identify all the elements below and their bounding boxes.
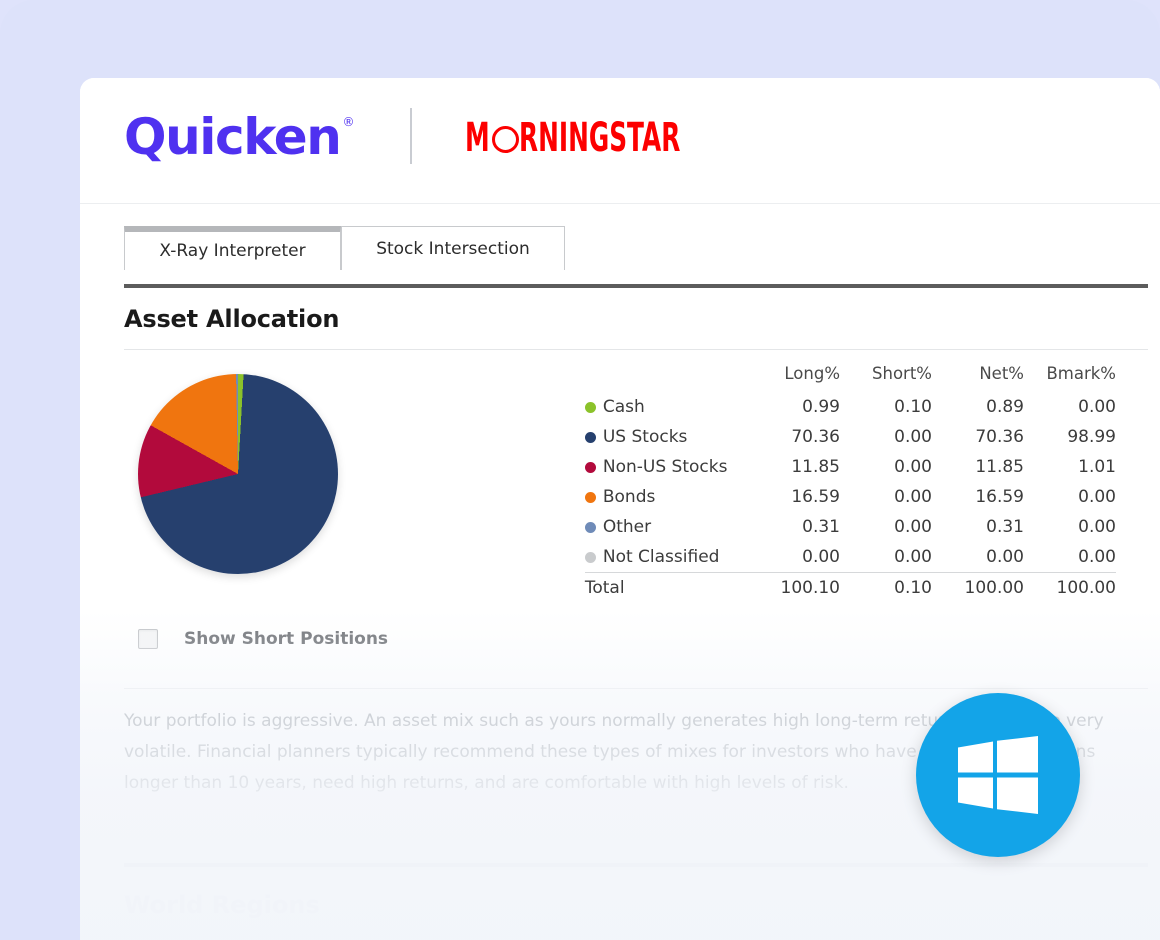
show-short-positions-row[interactable]: Show Short Positions	[124, 603, 1116, 649]
asset-allocation-table: Long% Short% Net% Bmark% Cash0.990.100.8…	[585, 364, 1116, 603]
legend-swatch-icon	[585, 462, 596, 473]
show-short-positions-label: Show Short Positions	[184, 629, 388, 649]
asset-class-cell: Non-US Stocks	[585, 452, 748, 482]
asset-class-label: Non-US Stocks	[603, 457, 728, 477]
legend-swatch-icon	[585, 522, 596, 533]
legend-swatch-icon	[585, 492, 596, 503]
allocation-body: Long% Short% Net% Bmark% Cash0.990.100.8…	[124, 350, 1116, 603]
table-header-row: Long% Short% Net% Bmark%	[585, 364, 1116, 392]
short-percent-cell: 0.00	[840, 542, 932, 573]
long-percent-cell: 0.00	[748, 542, 840, 573]
table-body: Cash0.990.100.890.00US Stocks70.360.0070…	[585, 392, 1116, 603]
asset-class-cell: Other	[585, 512, 748, 542]
column-header-short: Short%	[840, 364, 932, 392]
table-total-row: Total100.100.10100.00100.00	[585, 573, 1116, 604]
brand-header: Quicken ® M RNINGSTAR	[80, 78, 1160, 204]
net-percent-cell: 0.31	[932, 512, 1024, 542]
column-header-net: Net%	[932, 364, 1024, 392]
quicken-logo: Quicken ®	[124, 112, 355, 162]
quicken-registered-mark: ®	[343, 116, 355, 128]
tab-bar: X-Ray Interpreter Stock Intersection	[80, 204, 1160, 284]
tab-xray-interpreter[interactable]: X-Ray Interpreter	[124, 226, 341, 270]
total-bmark-percent: 100.00	[1024, 573, 1116, 604]
world-regions-title: World Regions	[124, 867, 1148, 919]
short-percent-cell: 0.00	[840, 482, 932, 512]
short-percent-cell: 0.00	[840, 452, 932, 482]
net-percent-cell: 0.00	[932, 542, 1024, 573]
table-row: Bonds16.590.0016.590.00	[585, 482, 1116, 512]
long-percent-cell: 70.36	[748, 422, 840, 452]
show-short-positions-checkbox[interactable]	[138, 629, 158, 649]
long-percent-cell: 11.85	[748, 452, 840, 482]
bmark-percent-cell: 98.99	[1024, 422, 1116, 452]
quicken-wordmark: Quicken	[124, 112, 341, 162]
bmark-percent-cell: 0.00	[1024, 542, 1116, 573]
column-header-long: Long%	[748, 364, 840, 392]
total-net-percent: 100.00	[932, 573, 1024, 604]
table-row: Not Classified0.000.000.000.00	[585, 542, 1116, 573]
pie-chart-container	[124, 364, 585, 574]
brand-divider	[410, 108, 412, 164]
table-row: Cash0.990.100.890.00	[585, 392, 1116, 422]
net-percent-cell: 11.85	[932, 452, 1024, 482]
morningstar-wordmark-suffix: RNINGSTAR	[519, 118, 680, 158]
asset-class-label: US Stocks	[603, 427, 688, 447]
bmark-percent-cell: 1.01	[1024, 452, 1116, 482]
page-title: Asset Allocation	[124, 288, 1116, 349]
total-label: Total	[585, 573, 748, 604]
asset-class-label: Cash	[603, 397, 645, 417]
legend-swatch-icon	[585, 402, 596, 413]
tab-stock-intersection-label: Stock Intersection	[376, 239, 530, 259]
table-row: US Stocks70.360.0070.3698.99	[585, 422, 1116, 452]
short-percent-cell: 0.10	[840, 392, 932, 422]
net-percent-cell: 16.59	[932, 482, 1024, 512]
column-header-category	[585, 364, 748, 392]
asset-class-cell: Not Classified	[585, 542, 748, 573]
asset-class-cell: Cash	[585, 392, 748, 422]
morningstar-wordmark-prefix: M	[465, 118, 490, 158]
windows-logo-icon	[958, 736, 1038, 814]
tab-xray-interpreter-label: X-Ray Interpreter	[159, 241, 305, 261]
bmark-percent-cell: 0.00	[1024, 512, 1116, 542]
net-percent-cell: 70.36	[932, 422, 1024, 452]
table-row: Other0.310.000.310.00	[585, 512, 1116, 542]
column-header-bmark: Bmark%	[1024, 364, 1116, 392]
long-percent-cell: 0.99	[748, 392, 840, 422]
table-header: Long% Short% Net% Bmark%	[585, 364, 1116, 392]
legend-swatch-icon	[585, 552, 596, 563]
bmark-percent-cell: 0.00	[1024, 482, 1116, 512]
asset-allocation-pie-chart	[138, 374, 338, 574]
long-percent-cell: 0.31	[748, 512, 840, 542]
short-percent-cell: 0.00	[840, 422, 932, 452]
total-short-percent: 0.10	[840, 573, 932, 604]
bmark-percent-cell: 0.00	[1024, 392, 1116, 422]
legend-swatch-icon	[585, 432, 596, 443]
asset-class-cell: US Stocks	[585, 422, 748, 452]
windows-logo-badge[interactable]	[916, 693, 1080, 857]
asset-class-cell: Bonds	[585, 482, 748, 512]
asset-class-label: Not Classified	[603, 547, 720, 567]
tab-stock-intersection[interactable]: Stock Intersection	[341, 226, 565, 270]
app-viewport: Quicken ® M RNINGSTAR X-Ray Interpreter …	[0, 0, 1160, 940]
morningstar-o-ring-icon	[492, 126, 519, 153]
net-percent-cell: 0.89	[932, 392, 1024, 422]
morningstar-logo: M RNINGSTAR	[465, 116, 779, 160]
long-percent-cell: 16.59	[748, 482, 840, 512]
short-percent-cell: 0.00	[840, 512, 932, 542]
asset-class-label: Other	[603, 517, 651, 537]
total-long-percent: 100.10	[748, 573, 840, 604]
table-row: Non-US Stocks11.850.0011.851.01	[585, 452, 1116, 482]
asset-class-label: Bonds	[603, 487, 656, 507]
world-regions-section: World Regions	[124, 863, 1148, 919]
